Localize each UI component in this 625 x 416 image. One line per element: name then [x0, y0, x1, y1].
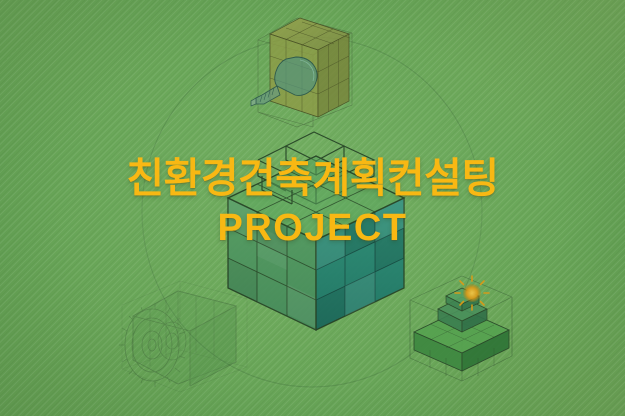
ziggurat-terrain-object: [410, 276, 512, 381]
burst-icon: [455, 276, 489, 310]
gear-cylinder-object: [119, 281, 247, 392]
lightbulb-cube-object: [251, 18, 352, 127]
isometric-illustration: [0, 0, 625, 416]
project-banner: 친환경건축계획컨설팅 PROJECT: [0, 0, 625, 416]
center-cube-building: [228, 132, 404, 330]
